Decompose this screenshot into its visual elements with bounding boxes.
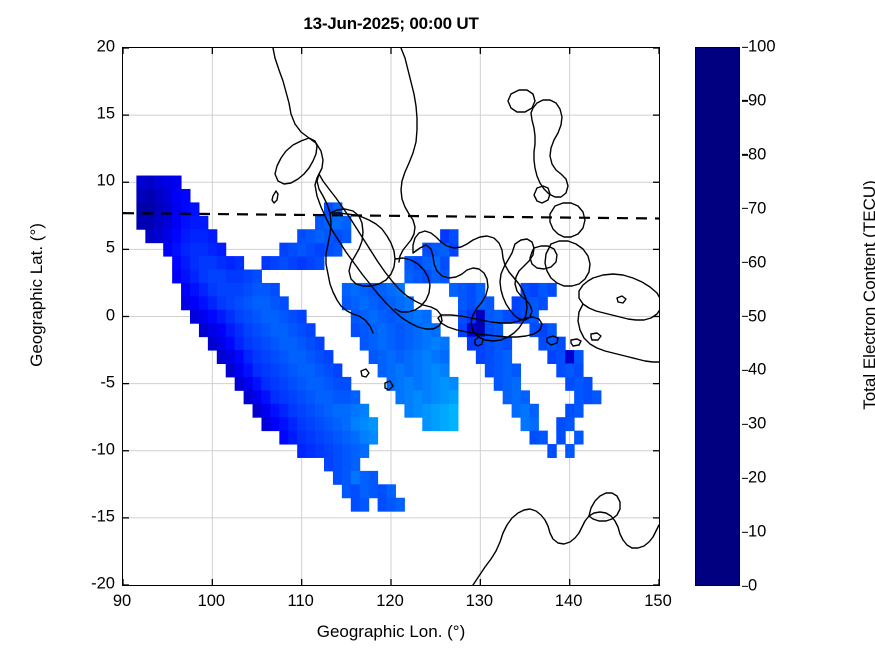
tec-cell — [226, 323, 235, 337]
tec-cell — [360, 404, 369, 418]
tec-cell — [145, 229, 154, 243]
tec-cell — [172, 270, 181, 284]
tec-cell — [378, 498, 387, 512]
tec-cell — [163, 229, 172, 243]
x-axis-title: Geographic Lon. (°) — [122, 622, 660, 642]
tec-cell — [342, 471, 351, 485]
tec-cell — [226, 363, 235, 377]
tec-cell — [378, 323, 387, 337]
tec-cell — [431, 270, 440, 284]
tec-data-cells — [136, 176, 601, 512]
tec-cell — [297, 256, 306, 270]
tec-cell — [422, 337, 431, 351]
tec-cell — [529, 283, 538, 297]
tec-cell — [404, 363, 413, 377]
tec-cell — [279, 417, 288, 431]
colorbar-tick-mark — [742, 370, 748, 371]
tec-cell — [378, 350, 387, 364]
tec-cell — [270, 256, 279, 270]
tec-cell — [449, 243, 458, 257]
tec-cell — [342, 283, 351, 297]
tec-cell — [431, 390, 440, 404]
tec-cell — [369, 350, 378, 364]
tec-cell — [351, 471, 360, 485]
tec-cell — [297, 350, 306, 364]
tec-cell — [333, 377, 342, 391]
colorbar-tick-text: 10 — [748, 523, 766, 541]
colorbar-tick-label: 60 — [748, 253, 766, 272]
tec-cell — [422, 363, 431, 377]
colorbar-gradient — [696, 48, 739, 585]
tec-cell — [279, 404, 288, 418]
tec-cell — [306, 377, 315, 391]
tec-cell — [306, 229, 315, 243]
tec-cell — [360, 337, 369, 351]
tec-cell — [226, 270, 235, 284]
tec-cell — [190, 310, 199, 324]
tec-cell — [199, 323, 208, 337]
tec-cell — [226, 310, 235, 324]
tec-cell — [476, 350, 485, 364]
tec-cell — [261, 323, 270, 337]
tec-cell — [360, 444, 369, 458]
tec-cell — [449, 404, 458, 418]
tec-cell — [431, 377, 440, 391]
tec-cell — [369, 337, 378, 351]
tec-cell — [163, 176, 172, 190]
tec-cell — [261, 256, 270, 270]
tec-cell — [574, 377, 583, 391]
tec-cell — [422, 404, 431, 418]
x-tick-label: 130 — [466, 592, 494, 611]
tec-cell — [503, 377, 512, 391]
tec-cell — [378, 484, 387, 498]
tec-cell — [261, 417, 270, 431]
tec-cell — [279, 256, 288, 270]
tec-cell — [395, 323, 404, 337]
tec-cell — [253, 350, 262, 364]
x-tick-label: 120 — [376, 592, 404, 611]
tec-cell — [413, 270, 422, 284]
tec-cell — [190, 256, 199, 270]
tec-cell — [235, 256, 244, 270]
tec-cell — [404, 323, 413, 337]
tec-cell — [333, 216, 342, 230]
tec-cell — [538, 283, 547, 297]
tec-cell — [404, 337, 413, 351]
tec-cell — [208, 270, 217, 284]
tec-cell — [387, 323, 396, 337]
tec-cell — [288, 390, 297, 404]
tec-cell — [154, 176, 163, 190]
colorbar-title: Total Electron Content (TECU) — [860, 85, 875, 505]
tec-cell — [279, 363, 288, 377]
tec-cell — [351, 296, 360, 310]
x-tick-label: 110 — [288, 592, 314, 611]
tec-cell — [297, 310, 306, 324]
tec-cell — [574, 390, 583, 404]
tec-cell — [208, 229, 217, 243]
tec-cell — [449, 377, 458, 391]
tec-cell — [413, 337, 422, 351]
tec-cell — [351, 417, 360, 431]
x-tick-label: 100 — [198, 592, 226, 611]
tec-cell — [565, 363, 574, 377]
tec-cell — [288, 256, 297, 270]
tec-cell — [440, 350, 449, 364]
tec-cell — [565, 404, 574, 418]
tec-cell — [458, 283, 467, 297]
tec-cell — [512, 363, 521, 377]
tec-cell — [306, 390, 315, 404]
tec-cell — [270, 417, 279, 431]
tec-cell — [485, 296, 494, 310]
colorbar-tick-mark — [742, 46, 748, 47]
x-tick-label: 90 — [113, 592, 131, 611]
tec-cell — [315, 444, 324, 458]
tec-cell — [324, 350, 333, 364]
y-tick-label: -10 — [91, 440, 115, 459]
tec-cell — [503, 390, 512, 404]
tec-cell — [324, 417, 333, 431]
tec-cell — [565, 444, 574, 458]
tec-cell — [172, 256, 181, 270]
colorbar-tick-label: 50 — [748, 307, 766, 326]
tec-cell — [253, 310, 262, 324]
tec-cell — [422, 390, 431, 404]
tec-cell — [235, 283, 244, 297]
tec-cell — [342, 484, 351, 498]
tec-cell — [315, 404, 324, 418]
tec-cell — [315, 350, 324, 364]
tec-cell — [351, 484, 360, 498]
tec-cell — [512, 377, 521, 391]
tec-cell — [369, 296, 378, 310]
tec-cell — [261, 296, 270, 310]
tec-cell — [583, 390, 592, 404]
tec-cell — [413, 310, 422, 324]
y-tick-label: -20 — [91, 575, 115, 594]
tec-cell — [306, 404, 315, 418]
tec-cell — [387, 350, 396, 364]
tec-cell — [315, 390, 324, 404]
colorbar-tick-text: 0 — [748, 577, 757, 595]
tec-cell — [261, 363, 270, 377]
tec-cell — [270, 363, 279, 377]
tec-cell — [235, 296, 244, 310]
tec-cell — [413, 350, 422, 364]
tec-cell — [199, 243, 208, 257]
tec-cell — [172, 176, 181, 190]
tec-cell — [297, 243, 306, 257]
tec-cell — [440, 417, 449, 431]
tec-cell — [395, 296, 404, 310]
colorbar-tick-label: 10 — [748, 523, 766, 542]
tec-cell — [485, 337, 494, 351]
tec-cell — [288, 337, 297, 351]
tec-cell — [351, 404, 360, 418]
tec-cell — [395, 337, 404, 351]
tec-cell — [145, 176, 154, 190]
colorbar-tick-mark — [742, 478, 748, 479]
tec-cell — [333, 444, 342, 458]
tec-cell — [145, 216, 154, 230]
tec-cell — [342, 377, 351, 391]
tec-cell — [297, 229, 306, 243]
tec-cell — [297, 431, 306, 445]
tec-cell — [235, 363, 244, 377]
tec-cell — [199, 283, 208, 297]
tec-cell — [440, 404, 449, 418]
y-tick-label: -5 — [100, 373, 115, 392]
tec-cell — [395, 498, 404, 512]
tec-cell — [351, 310, 360, 324]
tec-cell — [217, 256, 226, 270]
tec-cell — [440, 256, 449, 270]
colorbar-tick-labels: 1009080706050403020100 — [740, 47, 790, 586]
colorbar-tick-mark — [742, 208, 748, 209]
tec-cell — [279, 350, 288, 364]
tec-cell — [253, 323, 262, 337]
tec-cell — [360, 323, 369, 337]
tec-cell — [342, 229, 351, 243]
tec-cell — [387, 484, 396, 498]
tec-cell — [208, 337, 217, 351]
tec-cell — [404, 296, 413, 310]
tec-cell — [208, 310, 217, 324]
tec-cell — [315, 243, 324, 257]
tec-cell — [199, 256, 208, 270]
map-plot-area[interactable] — [122, 47, 660, 586]
tec-cell — [485, 363, 494, 377]
tec-cell — [217, 323, 226, 337]
tec-cell — [208, 256, 217, 270]
tec-cell — [315, 431, 324, 445]
tec-cell — [324, 363, 333, 377]
tec-cell — [199, 270, 208, 284]
tec-cell — [422, 350, 431, 364]
colorbar-tick-label: 0 — [748, 577, 757, 596]
y-tick-label: 5 — [106, 239, 115, 258]
tec-cell — [387, 363, 396, 377]
tec-cell — [342, 417, 351, 431]
tec-cell — [574, 350, 583, 364]
tec-cell — [270, 310, 279, 324]
tec-cell — [253, 296, 262, 310]
tec-cell — [449, 390, 458, 404]
tec-cell — [226, 337, 235, 351]
tec-cell — [208, 283, 217, 297]
tec-cell — [235, 310, 244, 324]
tec-cell — [253, 270, 262, 284]
tec-cell — [199, 296, 208, 310]
tec-cell — [369, 310, 378, 324]
x-tick-label: 150 — [644, 592, 672, 611]
tec-cell — [244, 283, 253, 297]
tec-cell — [136, 216, 145, 230]
tec-cell — [378, 337, 387, 351]
tec-cell — [521, 404, 530, 418]
tec-cell — [422, 310, 431, 324]
tec-cell — [538, 296, 547, 310]
tec-cell — [395, 350, 404, 364]
tec-cell — [172, 243, 181, 257]
tec-cell — [306, 363, 315, 377]
map-svg — [123, 48, 659, 585]
tec-cell — [261, 283, 270, 297]
tec-cell — [529, 404, 538, 418]
tec-cell — [431, 417, 440, 431]
tec-cell — [244, 310, 253, 324]
tec-cell — [413, 390, 422, 404]
colorbar-tick-mark — [742, 585, 748, 586]
tec-cell — [253, 404, 262, 418]
tec-cell — [360, 471, 369, 485]
tec-cell — [333, 229, 342, 243]
tec-cell — [431, 404, 440, 418]
tec-cell — [494, 337, 503, 351]
tec-cell — [244, 390, 253, 404]
tec-cell — [279, 323, 288, 337]
tec-cell — [154, 229, 163, 243]
tec-cell — [163, 243, 172, 257]
tec-cell — [315, 216, 324, 230]
tec-cell — [494, 310, 503, 324]
tec-cell — [351, 457, 360, 471]
tec-cell — [521, 390, 530, 404]
tec-cell — [235, 323, 244, 337]
tec-cell — [270, 296, 279, 310]
tec-cell — [556, 431, 565, 445]
tec-cell — [360, 417, 369, 431]
tec-cell — [351, 431, 360, 445]
tec-cell — [306, 256, 315, 270]
tec-cell — [244, 363, 253, 377]
tec-cell — [449, 417, 458, 431]
tec-cell — [181, 243, 190, 257]
tec-cell — [288, 417, 297, 431]
figure-canvas: 13-Jun-2025; 00:00 UT — [0, 0, 875, 656]
tec-cell — [422, 256, 431, 270]
tec-cell — [199, 229, 208, 243]
tec-cell — [476, 283, 485, 297]
tec-cell — [208, 243, 217, 257]
tec-cell — [226, 296, 235, 310]
tec-cell — [217, 243, 226, 257]
tec-cell — [324, 390, 333, 404]
tec-cell — [431, 337, 440, 351]
tec-cell — [404, 350, 413, 364]
tec-cell — [342, 431, 351, 445]
tec-cell — [261, 310, 270, 324]
colorbar-tick-text: 50 — [748, 307, 766, 325]
tec-cell — [208, 323, 217, 337]
tec-cell — [521, 417, 530, 431]
tec-cell — [413, 404, 422, 418]
tec-cell — [190, 216, 199, 230]
tec-cell — [378, 363, 387, 377]
tec-cell — [404, 390, 413, 404]
tec-cell — [181, 189, 190, 203]
colorbar-tick-text: 90 — [748, 91, 766, 109]
x-axis-tick-labels: 90100110120130140150 — [122, 592, 660, 616]
tec-cell — [217, 337, 226, 351]
tec-cell — [547, 283, 556, 297]
tec-cell — [351, 390, 360, 404]
tec-cell — [387, 337, 396, 351]
colorbar-tick-mark — [742, 154, 748, 155]
tec-cell — [217, 350, 226, 364]
tec-cell — [253, 390, 262, 404]
tec-cell — [440, 337, 449, 351]
tec-cell — [190, 243, 199, 257]
tec-cell — [244, 337, 253, 351]
tec-cell — [261, 377, 270, 391]
colorbar-tick-label: 70 — [748, 199, 766, 218]
tec-cell — [261, 350, 270, 364]
tec-cell — [244, 296, 253, 310]
tec-cell — [235, 270, 244, 284]
y-tick-label: 10 — [97, 172, 115, 191]
tec-cell — [270, 404, 279, 418]
tec-cell — [342, 390, 351, 404]
tec-cell — [172, 216, 181, 230]
tec-cell — [306, 243, 315, 257]
tec-cell — [244, 377, 253, 391]
tec-cell — [288, 243, 297, 257]
tec-cell — [547, 350, 556, 364]
tec-cell — [387, 498, 396, 512]
tec-cell — [261, 390, 270, 404]
tec-cell — [467, 283, 476, 297]
tec-cell — [235, 337, 244, 351]
tec-cell — [172, 229, 181, 243]
tec-cell — [288, 377, 297, 391]
tec-cell — [324, 457, 333, 471]
chart-title: 13-Jun-2025; 00:00 UT — [122, 14, 660, 34]
tec-cell — [333, 363, 342, 377]
colorbar[interactable] — [695, 47, 740, 586]
tec-cell — [342, 444, 351, 458]
tec-cell — [253, 337, 262, 351]
tec-cell — [395, 363, 404, 377]
tec-cell — [145, 189, 154, 203]
tec-cell — [315, 377, 324, 391]
tec-cell — [333, 404, 342, 418]
tec-cell — [351, 323, 360, 337]
tec-cell — [422, 417, 431, 431]
y-tick-label: 15 — [97, 105, 115, 124]
y-axis-title: Geographic Lat. (°) — [27, 165, 47, 425]
tec-cell — [529, 431, 538, 445]
y-tick-label: 20 — [97, 38, 115, 57]
tec-cell — [574, 363, 583, 377]
tec-cell — [333, 431, 342, 445]
tec-cell — [154, 216, 163, 230]
tec-cell — [244, 323, 253, 337]
tec-cell — [583, 377, 592, 391]
y-tick-label: -15 — [91, 507, 115, 526]
tec-cell — [494, 323, 503, 337]
colorbar-tick-label: 90 — [748, 91, 766, 110]
tec-cell — [279, 310, 288, 324]
tec-cell — [565, 417, 574, 431]
tec-cell — [395, 390, 404, 404]
tec-cell — [556, 350, 565, 364]
tec-cell — [279, 296, 288, 310]
tec-cell — [270, 377, 279, 391]
tec-cell — [297, 377, 306, 391]
